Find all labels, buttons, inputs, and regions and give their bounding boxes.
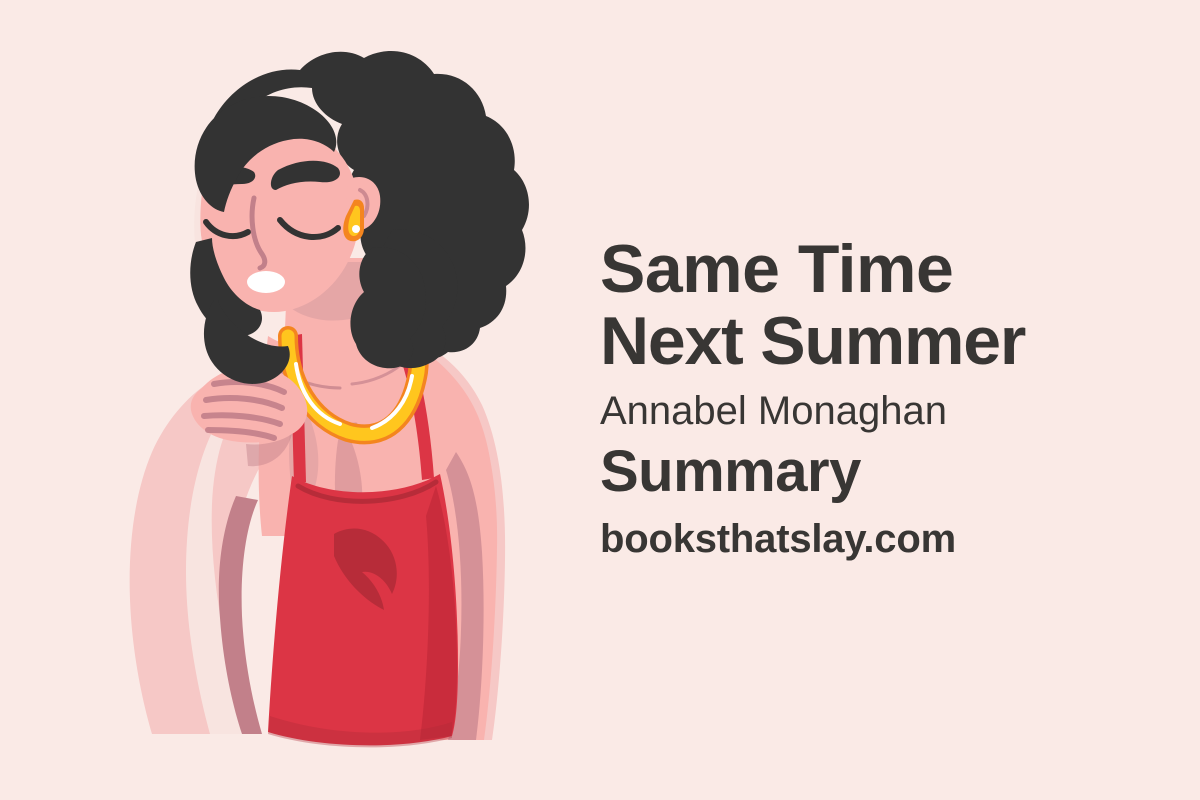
site-name: booksthatslay.com (600, 511, 956, 567)
earring-highlight (352, 225, 360, 233)
poster-canvas: Same Time Next Summer Annabel Monaghan S… (0, 0, 1200, 800)
mouth (247, 271, 285, 293)
book-title-line-2: Next Summer (600, 305, 1025, 377)
book-title-line-1: Same Time (600, 233, 953, 305)
text-block: Same Time Next Summer Annabel Monaghan S… (600, 0, 1200, 800)
woman-illustration-svg (0, 0, 600, 800)
woman-illustration (0, 0, 600, 800)
author-name: Annabel Monaghan (600, 381, 947, 441)
section-label: Summary (600, 439, 861, 506)
